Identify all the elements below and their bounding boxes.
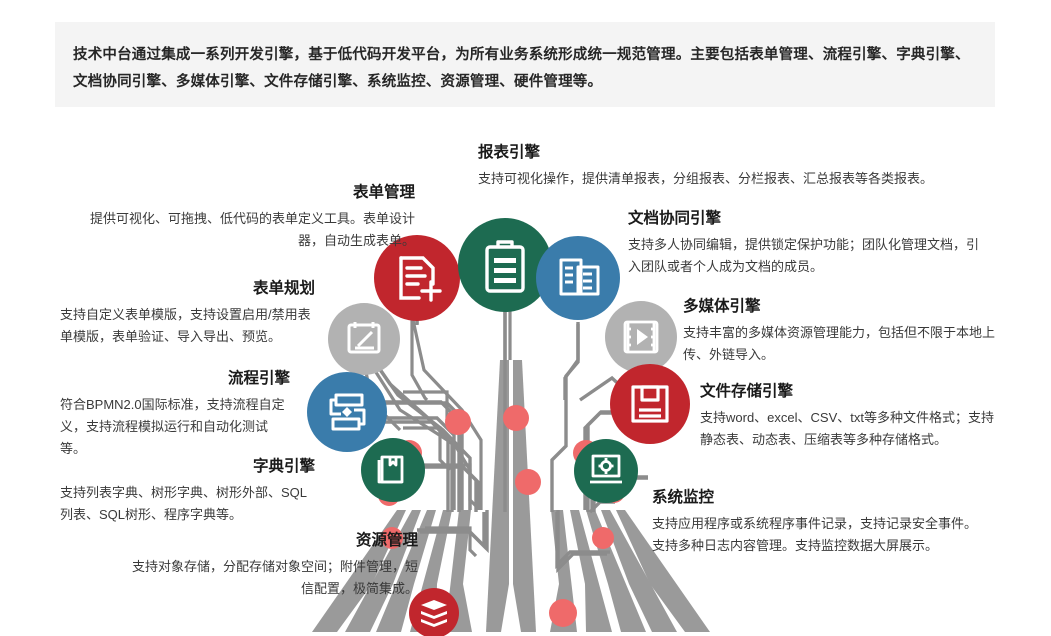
body-zidian: 支持列表字典、树形字典、树形外部、SQL列表、SQL树形、程序字典等。 — [60, 482, 315, 526]
heading-wenjian: 文件存储引擎 — [700, 381, 1000, 403]
text-block-zidian: 字典引擎 支持列表字典、树形字典、树形外部、SQL列表、SQL树形、程序字典等。 — [60, 456, 315, 526]
accent-dot — [592, 527, 614, 549]
heading-baobiao: 报表引擎 — [478, 142, 998, 164]
accent-dot — [445, 409, 471, 435]
accent-dot — [503, 405, 529, 431]
node-liucheng[interactable] — [307, 372, 387, 452]
body-wenjian: 支持word、excel、CSV、txt等多种文件格式；支持静态表、动态表、压缩… — [700, 407, 1000, 451]
node-zidian[interactable] — [361, 438, 425, 502]
heading-ziyuan: 资源管理 — [128, 530, 418, 552]
body-xitong: 支持应用程序或系统程序事件记录，支持记录安全事件。支持多种日志内容管理。支持监控… — [652, 513, 982, 557]
heading-zidian: 字典引擎 — [60, 456, 315, 478]
text-block-ziyuan: 资源管理 支持对象存储，分配存储对象空间；附件管理，短信配置，极简集成。 — [128, 530, 418, 600]
heading-liucheng: 流程引擎 — [60, 368, 290, 390]
text-block-wenjian: 文件存储引擎 支持word、excel、CSV、txt等多种文件格式；支持静态表… — [700, 381, 1000, 451]
accent-dot — [515, 469, 541, 495]
body-wendang: 支持多人协同编辑，提供锁定保护功能；团队化管理文档，引入团队或者个人成为文档的成… — [628, 234, 988, 278]
text-block-baobiao: 报表引擎 支持可视化操作，提供清单报表，分组报表、分栏报表、汇总报表等各类报表。 — [478, 142, 998, 190]
body-baobiao: 支持可视化操作，提供清单报表，分组报表、分栏报表、汇总报表等各类报表。 — [478, 168, 998, 190]
heading-biaodan-guihua: 表单规划 — [60, 278, 315, 300]
body-biaodan-guihua: 支持自定义表单模版，支持设置启用/禁用表单模版，表单验证、导入导出、预览。 — [60, 304, 315, 348]
body-duomeiti: 支持丰富的多媒体资源管理能力，包括但不限于本地上传、外链导入。 — [683, 322, 1003, 366]
summary-banner: 技术中台通过集成一系列开发引擎，基于低代码开发平台，为所有业务系统形成统一规范管… — [55, 22, 995, 107]
heading-biaodan-guanli: 表单管理 — [85, 182, 415, 204]
node-baobiao[interactable] — [458, 218, 552, 312]
text-block-xitong: 系统监控 支持应用程序或系统程序事件记录，支持记录安全事件。支持多种日志内容管理… — [652, 487, 982, 557]
node-biaodan-guihua[interactable] — [328, 303, 400, 375]
summary-banner-text: 技术中台通过集成一系列开发引擎，基于低代码开发平台，为所有业务系统形成统一规范管… — [73, 42, 977, 96]
heading-xitong: 系统监控 — [652, 487, 982, 509]
node-duomeiti[interactable] — [605, 301, 677, 373]
body-ziyuan: 支持对象存储，分配存储对象空间；附件管理，短信配置，极简集成。 — [128, 556, 418, 600]
text-block-biaodan-guanli: 表单管理 提供可视化、可拖拽、低代码的表单定义工具。表单设计器，自动生成表单。 — [85, 182, 415, 252]
text-block-liucheng: 流程引擎 符合BPMN2.0国际标准，支持流程自定义，支持流程模拟运行和自动化测… — [60, 368, 290, 460]
text-block-wendang: 文档协同引擎 支持多人协同编辑，提供锁定保护功能；团队化管理文档，引入团队或者个… — [628, 208, 988, 278]
heading-wendang: 文档协同引擎 — [628, 208, 988, 230]
heading-duomeiti: 多媒体引擎 — [683, 296, 1003, 318]
node-wendang[interactable] — [536, 236, 620, 320]
text-block-duomeiti: 多媒体引擎 支持丰富的多媒体资源管理能力，包括但不限于本地上传、外链导入。 — [683, 296, 1003, 366]
body-liucheng: 符合BPMN2.0国际标准，支持流程自定义，支持流程模拟运行和自动化测试等。 — [60, 394, 290, 460]
trunk-center-right — [513, 360, 536, 632]
node-xitong[interactable] — [574, 439, 638, 503]
accent-dot — [549, 599, 577, 627]
body-biaodan-guanli: 提供可视化、可拖拽、低代码的表单定义工具。表单设计器，自动生成表单。 — [85, 208, 415, 252]
text-block-biaodan-guihua: 表单规划 支持自定义表单模版，支持设置启用/禁用表单模版，表单验证、导入导出、预… — [60, 278, 315, 348]
node-wenjian[interactable] — [610, 364, 690, 444]
